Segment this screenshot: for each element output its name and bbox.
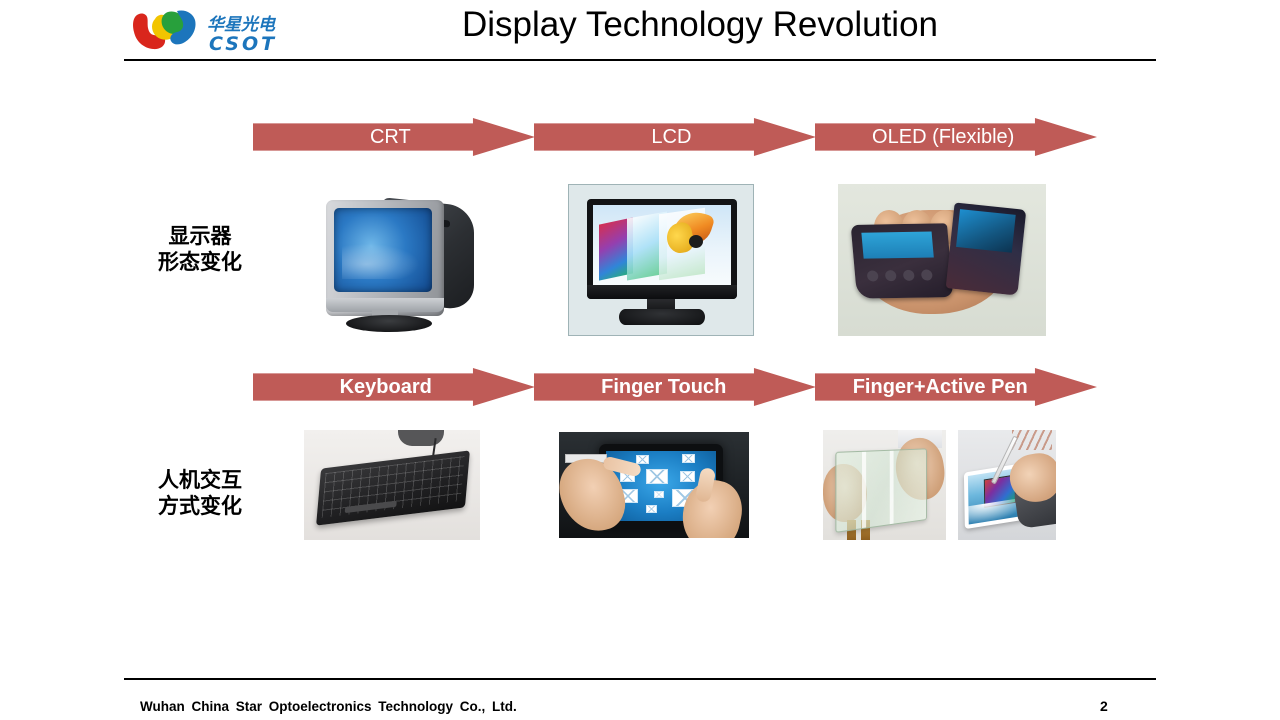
oled-panel-left: [851, 223, 954, 298]
arrow-label: Keyboard: [340, 377, 432, 397]
logo-brand-en: CSOT: [209, 33, 277, 55]
csot-logo-svg: 华星光电 CSOT: [131, 8, 291, 56]
lcd-screen: [593, 205, 731, 285]
arrow-row-display-evolution: CRT LCD OLED (Flexible): [0, 118, 1280, 158]
arrow-label: LCD: [651, 127, 691, 147]
keyboard-photo: [304, 430, 480, 540]
arrow-label: CRT: [370, 127, 411, 147]
keyboard-body: [316, 450, 470, 525]
crt-screen: [334, 208, 432, 292]
lcd-frame: [587, 199, 737, 299]
crt-monitor-photo: [306, 184, 496, 336]
mail-icon: [682, 454, 695, 463]
row-caption-interaction-mode: 人机交互 方式变化: [140, 468, 260, 519]
arrow-lcd[interactable]: LCD: [534, 118, 816, 156]
flexible-glass-photo: [823, 430, 946, 540]
flexglass-highlight: [890, 451, 894, 525]
lcd-bird-head: [689, 235, 703, 248]
keyboard-background-object: [398, 430, 444, 446]
flexglass-panel: [835, 448, 927, 533]
row-caption-display-form: 显示器 形态变化: [140, 224, 260, 275]
page-title: Display Technology Revolution: [300, 5, 1100, 45]
oled-panel-right-screen: [956, 209, 1016, 253]
flexglass-highlight: [862, 452, 866, 528]
arrow-finger-active-pen[interactable]: Finger+Active Pen: [815, 368, 1097, 406]
arrow-row-interaction-evolution: Keyboard Finger Touch Finger+Active Pen: [0, 368, 1280, 408]
arrow-oled-flexible[interactable]: OLED (Flexible): [815, 118, 1097, 156]
slide-header: 华星光电 CSOT Display Technology Revolution: [0, 0, 1280, 64]
footer-page-number: 2: [1100, 698, 1108, 714]
keyboard-keys: [322, 456, 465, 518]
footer-divider: [124, 678, 1156, 680]
stylus-background-wires: [1012, 430, 1052, 450]
csot-logo: 华星光电 CSOT: [131, 8, 291, 56]
mail-icon: [636, 455, 649, 464]
arrow-finger-touch[interactable]: Finger Touch: [534, 368, 816, 406]
row-caption-line2: 方式变化: [140, 494, 260, 520]
mail-icon: [646, 469, 668, 484]
oled-panel-right: [946, 202, 1027, 295]
row-caption-line1: 人机交互: [140, 468, 260, 494]
arrow-crt[interactable]: CRT: [253, 118, 535, 156]
mail-icon: [680, 471, 695, 482]
oled-panel-left-icons: [867, 269, 934, 282]
arrow-keyboard[interactable]: Keyboard: [253, 368, 535, 406]
lcd-monitor-photo: [568, 184, 754, 336]
stylus-tablet-photo: [958, 430, 1056, 540]
row-caption-line2: 形态变化: [140, 250, 260, 276]
arrow-label: Finger+Active Pen: [853, 377, 1028, 397]
flexible-oled-photo: [838, 184, 1046, 336]
row-caption-line1: 显示器: [140, 224, 260, 250]
arrow-label: OLED (Flexible): [872, 127, 1014, 147]
footer-company-name: Wuhan China Star Optoelectronics Technol…: [140, 699, 517, 714]
crt-base: [346, 315, 432, 332]
finger-touch-tablet-photo: [559, 432, 749, 538]
logo-brand-cn: 华星光电: [207, 15, 277, 35]
lcd-bezel-chin: [587, 285, 737, 299]
header-divider: [124, 59, 1156, 61]
oled-panel-left-screen: [861, 232, 933, 259]
mail-icon: [654, 491, 664, 498]
mail-icon: [646, 505, 657, 513]
lcd-stand-foot: [619, 309, 705, 325]
arrow-label: Finger Touch: [601, 377, 726, 397]
